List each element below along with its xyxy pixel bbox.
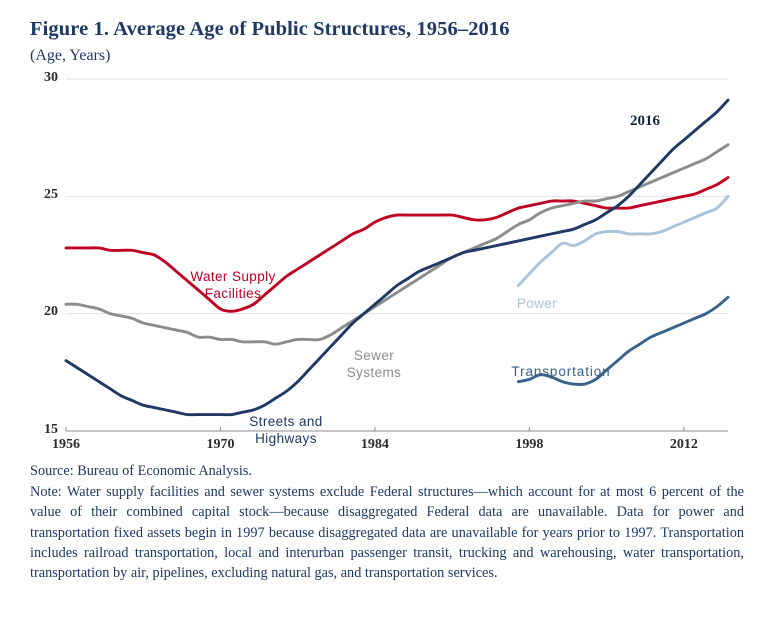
y-axis-tick-15: 15 [24,422,58,438]
series-label-transportation: Transportation [496,364,626,381]
source-line: Source: Bureau of Economic Analysis. [30,461,744,481]
figure-notes: Source: Bureau of Economic Analysis. Not… [30,461,744,584]
figure-page: Figure 1. Average Age of Public Structur… [0,0,762,633]
series-label-sewer-systems: Sewer Systems [334,348,414,382]
series-label-streets-and-highways: Streets and Highways [231,414,341,448]
note-line: Note: Water supply facilities and sewer … [30,482,744,583]
figure-subtitle: (Age, Years) [30,46,740,65]
y-axis-tick-30: 30 [24,70,58,86]
x-axis-tick-1956: 1956 [36,437,96,453]
x-axis-tick-1998: 1998 [499,437,559,453]
x-axis-tick-2012: 2012 [654,437,714,453]
y-axis-tick-20: 20 [24,304,58,320]
figure-title: Figure 1. Average Age of Public Structur… [30,18,740,42]
chart-area: 30 25 20 15 1956 1970 1984 1998 2012 Wat… [26,67,738,457]
series-label-power: Power [497,296,577,313]
x-axis-tick-1984: 1984 [345,437,405,453]
series-label-water-supply-facilities: Water Supply Facilities [178,269,288,303]
end-year-annotation: 2016 [630,113,660,130]
y-axis-tick-25: 25 [24,187,58,203]
